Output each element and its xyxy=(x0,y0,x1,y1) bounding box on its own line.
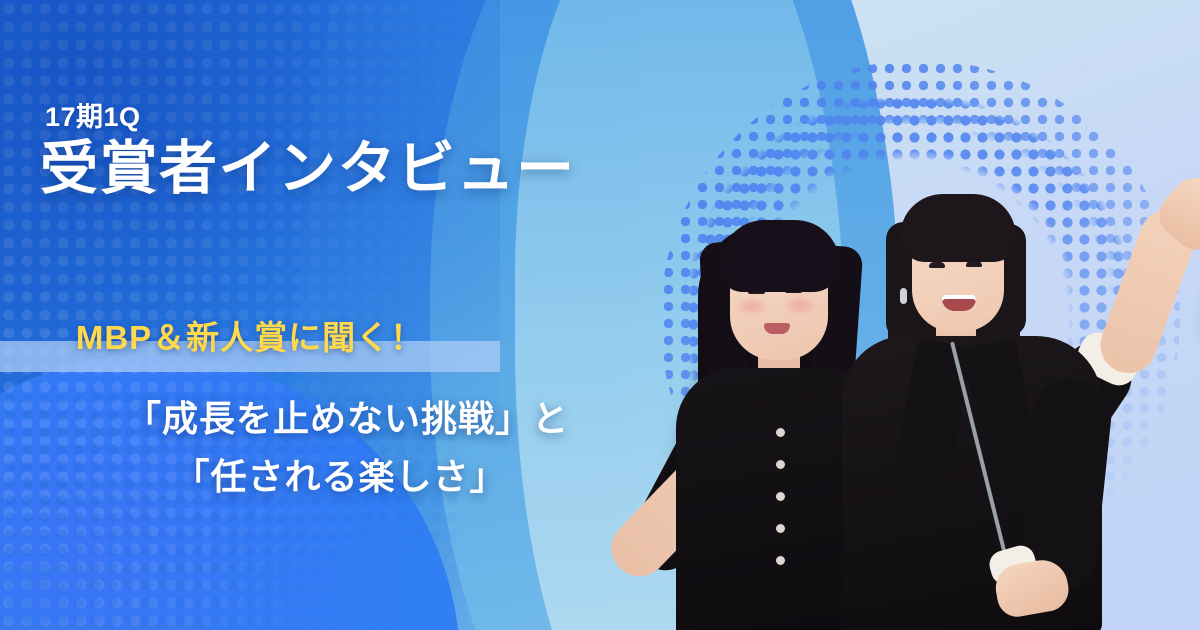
right-eye-left xyxy=(929,262,945,268)
subtitle-line-1: 「成長を止めない挑戦」と xyxy=(20,390,660,448)
right-hair-front xyxy=(900,194,1016,262)
left-button-3 xyxy=(776,492,785,501)
left-button-2 xyxy=(776,460,785,469)
interview-banner: AWARD MBP 受賞 xyxy=(0,0,1200,630)
page-title: 受賞者インタビュー xyxy=(40,138,576,199)
right-mouth xyxy=(942,295,976,311)
subtitle-block: 「成長を止めない挑戦」と 「任される楽しさ」 xyxy=(20,390,660,507)
right-earring xyxy=(900,288,907,304)
eyebrow-text: MBP＆新人賞に聞く！ xyxy=(0,311,500,359)
left-mouth xyxy=(764,323,790,334)
left-button-4 xyxy=(776,524,785,533)
award-winner-right: AWARD 新人賞 受賞 xyxy=(800,130,1200,630)
left-button-5 xyxy=(776,556,785,565)
banner-text-block: 17期1Q 受賞者インタビュー MBP＆新人賞に聞く！ 「成長を止めない挑戦」と… xyxy=(0,0,660,630)
left-button-1 xyxy=(776,428,785,437)
left-blush-left xyxy=(740,300,764,313)
subtitle-line-2: 「任される楽しさ」 xyxy=(20,448,660,506)
term-kicker: 17期1Q xyxy=(45,95,141,134)
